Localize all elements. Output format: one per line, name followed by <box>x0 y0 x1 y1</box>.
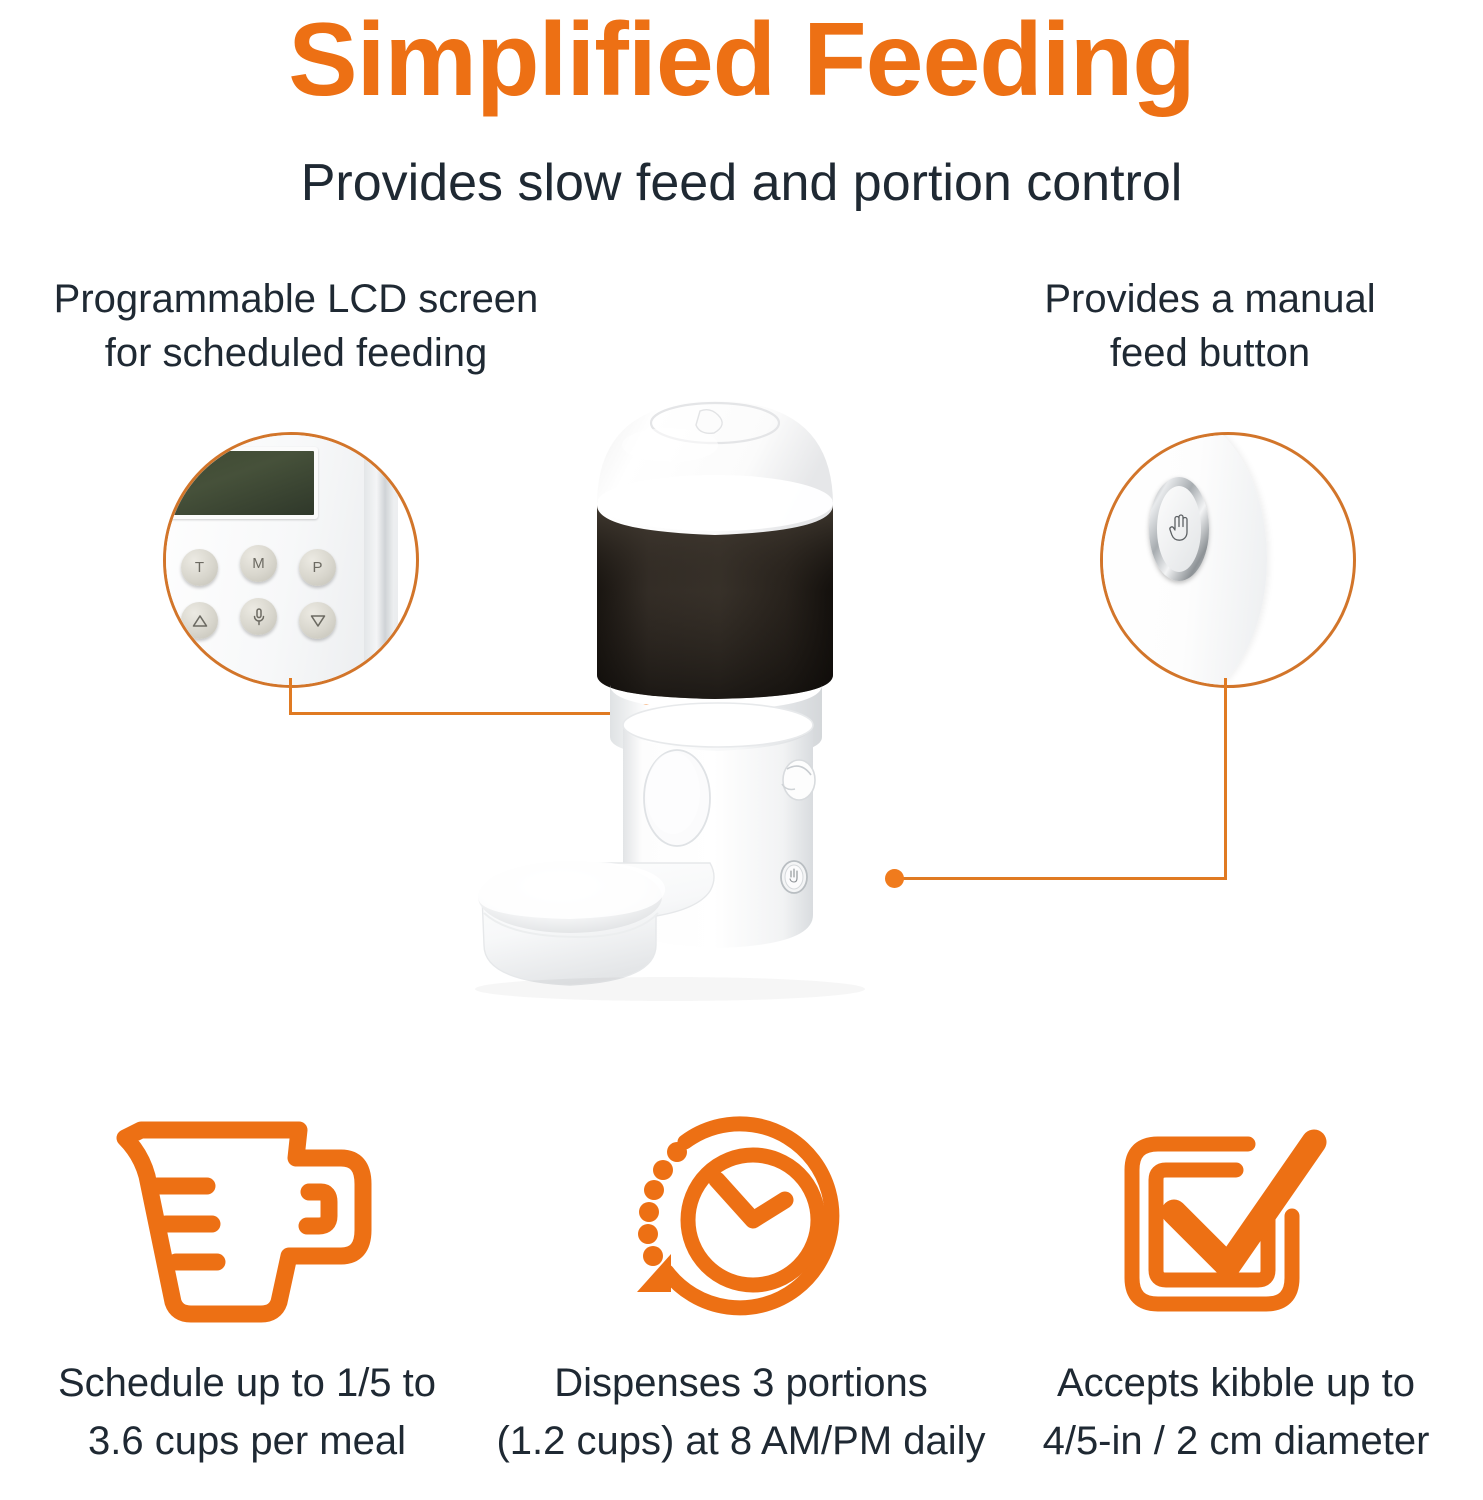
page-subtitle: Provides slow feed and portion control <box>0 152 1483 214</box>
product-image-automatic-pet-feeder <box>460 385 980 1065</box>
lcd-mode-button-label: M <box>252 555 265 572</box>
connector-lcd-vertical <box>289 678 292 715</box>
checkbox-check-icon <box>989 1100 1483 1340</box>
lcd-screen-bezel <box>170 447 318 519</box>
feature-item-schedule: Schedule up to 1/5 to 3.6 cups per meal <box>0 1100 494 1470</box>
feature-kibble-line1: Accepts kibble up to <box>989 1354 1483 1412</box>
feature-text-portions: Dispenses 3 portions (1.2 cups) at 8 AM/… <box>494 1354 988 1470</box>
lcd-mode-button[interactable]: M <box>240 545 277 582</box>
lcd-timer-button[interactable]: T <box>181 549 218 586</box>
feature-item-portions: Dispenses 3 portions (1.2 cups) at 8 AM/… <box>494 1100 988 1470</box>
infographic-page: Simplified Feeding Provides slow feed an… <box>0 0 1483 1500</box>
measuring-cup-icon <box>0 1100 494 1340</box>
callout-caption-manual: Provides a manual feed button <box>950 272 1470 380</box>
lcd-control-panel: T M P <box>163 432 398 688</box>
callout-circle-lcd: T M P <box>163 432 419 688</box>
feeder-body-surface <box>1100 432 1267 688</box>
lcd-screen <box>174 451 314 515</box>
callout-caption-lcd-line2: for scheduled feeding <box>0 326 592 380</box>
lcd-portion-button[interactable]: P <box>299 549 336 586</box>
feature-text-kibble: Accepts kibble up to 4/5-in / 2 cm diame… <box>989 1354 1483 1470</box>
callout-caption-lcd-line1: Programmable LCD screen <box>0 272 592 326</box>
feature-kibble-line2: 4/5-in / 2 cm diameter <box>989 1412 1483 1470</box>
feature-schedule-line2: 3.6 cups per meal <box>0 1412 494 1470</box>
manual-feed-button[interactable] <box>1149 477 1209 581</box>
lcd-up-arrow-button[interactable] <box>181 602 218 639</box>
down-triangle-icon <box>310 614 326 628</box>
feature-text-schedule: Schedule up to 1/5 to 3.6 cups per meal <box>0 1354 494 1470</box>
microphone-icon <box>252 608 266 626</box>
clock-rotate-icon <box>494 1100 988 1340</box>
callout-caption-manual-line2: feed button <box>950 326 1470 380</box>
rotary-knob <box>782 760 815 800</box>
page-title: Simplified Feeding <box>0 4 1483 116</box>
feature-portions-line2: (1.2 cups) at 8 AM/PM daily <box>494 1412 988 1470</box>
lcd-timer-button-label: T <box>195 559 204 576</box>
feature-schedule-line1: Schedule up to 1/5 to <box>0 1354 494 1412</box>
connector-manual-vertical <box>1224 678 1227 880</box>
feature-portions-line1: Dispenses 3 portions <box>494 1354 988 1412</box>
hand-press-icon <box>1166 512 1192 547</box>
lcd-portion-button-label: P <box>312 559 322 576</box>
up-triangle-icon <box>192 614 208 628</box>
lcd-microphone-button[interactable] <box>240 598 277 635</box>
manual-feed-button-face <box>1157 486 1201 572</box>
callout-caption-manual-line1: Provides a manual <box>950 272 1470 326</box>
body-manual-feed-button <box>781 861 807 893</box>
callout-caption-lcd: Programmable LCD screen for scheduled fe… <box>0 272 592 380</box>
lcd-down-arrow-button[interactable] <box>299 602 336 639</box>
feature-item-kibble: Accepts kibble up to 4/5-in / 2 cm diame… <box>989 1100 1483 1470</box>
callout-circle-manual <box>1100 432 1356 688</box>
